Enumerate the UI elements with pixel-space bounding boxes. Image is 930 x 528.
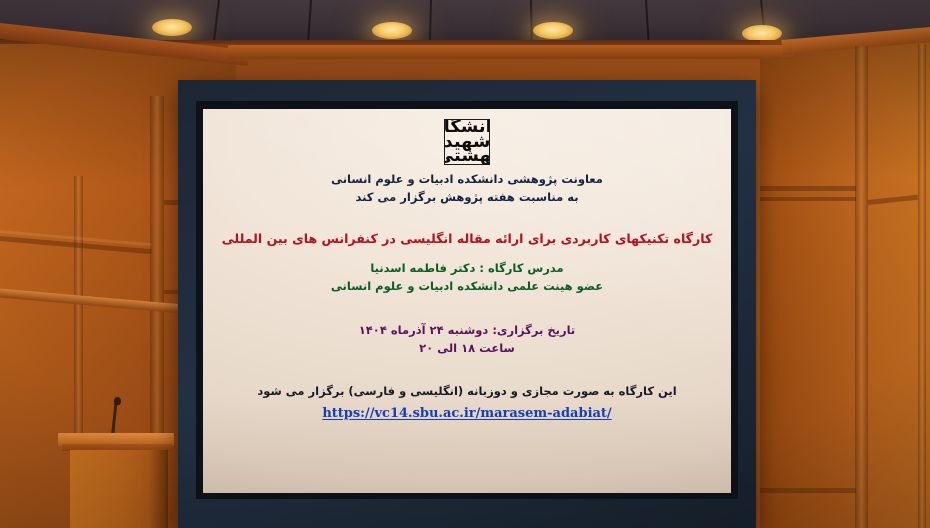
spacer bbox=[217, 357, 717, 383]
wall-pilaster bbox=[855, 46, 868, 528]
wall-panel-line bbox=[760, 488, 856, 493]
ceiling-light bbox=[533, 22, 573, 39]
poster-footer-note: این کارگاه به صورت مجازی و دوزبانه (انگل… bbox=[217, 383, 717, 401]
poster-instructor-line-2: عضو هینت علمی دانشکده ادبیات و علوم انسا… bbox=[217, 278, 717, 296]
shahid-beheshti-university-logo: دانشگاه شهید بهشتی bbox=[444, 119, 490, 165]
wall-panel-line bbox=[760, 197, 856, 201]
ceiling-light bbox=[372, 22, 412, 39]
auditorium-scene: دانشگاه شهید بهشتی معاونت پژوهشی دانشکده… bbox=[0, 0, 930, 528]
poster-header-line-2: به مناسبت هفته پژوهش برگزار می کند bbox=[217, 189, 717, 207]
poster-instructor-line-1: مدرس کارگاه : دکتر فاطمه اسدنیا bbox=[217, 260, 717, 278]
microphone-icon bbox=[114, 397, 121, 405]
wall-pilaster bbox=[918, 44, 926, 528]
wall-right-shading bbox=[760, 40, 930, 528]
poster-date: تاریخ برگزاری: دوشنبه ۲۴ آذرماه ۱۴۰۴ bbox=[217, 322, 717, 340]
webinar-link[interactable]: https://vc14.sbu.ac.ir/marasem-adabiat/ bbox=[322, 406, 611, 421]
poster-time: ساعت ۱۸ الی ۲۰ bbox=[217, 340, 717, 358]
poster-header-line-1: معاونت پژوهشی دانشکده ادبیات و علوم انسا… bbox=[217, 171, 717, 189]
wall-panel-line bbox=[760, 186, 856, 191]
podium-shadow bbox=[148, 450, 168, 528]
cornice-moulding-center bbox=[228, 45, 794, 59]
ceiling-light bbox=[152, 19, 192, 36]
projection-screen[interactable]: دانشگاه شهید بهشتی معاونت پژوهشی دانشکده… bbox=[203, 109, 731, 493]
spacer bbox=[217, 248, 717, 260]
spacer bbox=[217, 207, 717, 229]
announcement-poster: دانشگاه شهید بهشتی معاونت پژوهشی دانشکده… bbox=[203, 109, 731, 493]
poster-title: کارگاه تکنیکهای کاربردی برای ارائه مقاله… bbox=[217, 229, 717, 249]
logo-calligraphy: دانشگاه شهید بهشتی bbox=[447, 123, 487, 161]
spacer bbox=[217, 296, 717, 322]
